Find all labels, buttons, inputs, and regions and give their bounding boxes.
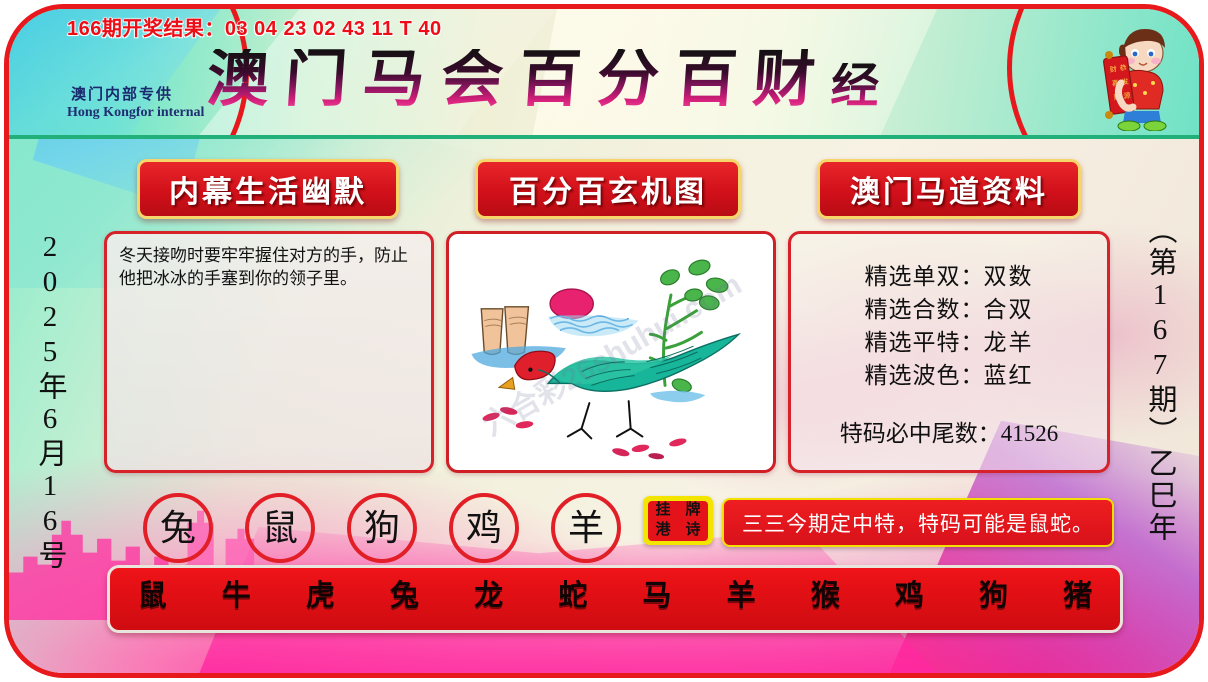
zodiac-strip-item[interactable]: 蛇	[558, 582, 587, 611]
forecast-label: 精选合数	[865, 293, 961, 326]
draw-result-line: 166期开奖结果：03 04 23 02 43 11 T 40	[67, 12, 442, 41]
tip-text: 三三今期定中特，特码可能是鼠蛇。	[742, 508, 1094, 538]
zodiac-strip-item[interactable]: 羊	[727, 582, 756, 611]
zodiac-strip-item[interactable]: 牛	[222, 582, 251, 611]
forecast-colon: ：	[961, 326, 984, 359]
zodiac-pick[interactable]: 鸡	[449, 493, 519, 563]
brand-subtitle-en: Hong Kongfor internal	[67, 105, 204, 121]
forecast-row: 精选平特 ： 龙羊	[791, 326, 1107, 359]
zodiac-strip-item[interactable]: 鼠	[138, 582, 167, 611]
guapai-badge-inner: 挂 牌 港 诗	[648, 501, 708, 541]
forecast-colon: ：	[961, 359, 984, 392]
guapai-badge[interactable]: 挂 牌 港 诗	[643, 496, 713, 545]
zodiac-strip-item[interactable]: 鸡	[895, 582, 924, 611]
zodiac-strip: 鼠 牛 虎 兔 龙 蛇 马 羊 猴 鸡 狗 猪	[107, 565, 1123, 633]
forecast-value: 合双	[984, 293, 1034, 326]
zodiac-pick[interactable]: 鼠	[245, 493, 315, 563]
forecast-label: 精选单双	[865, 260, 961, 293]
svg-text:财: 财	[1109, 64, 1117, 74]
title-char-5: 百	[517, 49, 583, 111]
forecast-value: 双数	[984, 260, 1034, 293]
plaque-label-right: 澳门马道资料	[850, 167, 1048, 211]
forecast-row: 精选单双 ： 双数	[791, 260, 1107, 293]
plaque-label-middle: 百分百玄机图	[509, 167, 707, 211]
zodiac-strip-item[interactable]: 猴	[811, 582, 840, 611]
title-char-3: 马	[361, 49, 427, 111]
date-vertical-label: 2025年6月16号	[29, 231, 71, 572]
header-band: 166期开奖结果：03 04 23 02 43 11 T 40 澳门内部专供 H…	[9, 9, 1199, 139]
forecast-label: 精选平特	[865, 326, 961, 359]
title-char-8: 财	[751, 49, 817, 111]
issue-vertical-label: （第167期）乙巳年	[1139, 215, 1181, 544]
forecast-colon: ：	[961, 260, 984, 293]
forecast-colon: ：	[961, 293, 984, 326]
guapai-char-3: 港	[655, 523, 670, 538]
zodiac-pick[interactable]: 兔	[143, 493, 213, 563]
brand-subtitle-cn: 澳门内部专供	[71, 83, 173, 104]
forecast-panel: 精选单双 ： 双数 精选合数 ： 合双 精选平特 ： 龙羊 精选波色 ：	[788, 231, 1110, 473]
svg-text:源: 源	[1123, 91, 1131, 101]
joke-panel: 冬天接吻时要牢牢握住对方的手，防止他把冰冰的手塞到你的领子里。	[104, 231, 434, 473]
guapai-char-2: 牌	[685, 503, 700, 518]
main-title: 澳 门 马 会 百 分 百 财 经	[207, 49, 879, 111]
bird-illustration	[453, 238, 769, 466]
forecast-label: 精选波色	[865, 359, 961, 392]
guapai-char-1: 挂	[655, 503, 670, 518]
zodiac-strip-item[interactable]: 兔	[390, 582, 419, 611]
title-char-9: 经	[829, 63, 880, 111]
child-with-scroll-icon: 财恭 喜发 财源	[1085, 23, 1181, 131]
plaque-label-left: 内幕生活幽默	[169, 167, 367, 211]
guapai-char-4: 诗	[685, 523, 700, 538]
poster-frame: 166期开奖结果：03 04 23 02 43 11 T 40 澳门内部专供 H…	[4, 4, 1204, 678]
title-char-7: 百	[673, 49, 739, 111]
zodiac-picks-row: 兔 鼠 狗 鸡 羊	[143, 493, 621, 563]
section-title-joke[interactable]: 内幕生活幽默	[137, 159, 399, 219]
zodiac-strip-item[interactable]: 龙	[474, 582, 503, 611]
section-title-forecast[interactable]: 澳门马道资料	[817, 159, 1081, 219]
forecast-row: 精选波色 ： 蓝红	[791, 359, 1107, 392]
lottery-poster: 166期开奖结果：03 04 23 02 43 11 T 40 澳门内部专供 H…	[0, 0, 1208, 682]
zodiac-strip-item[interactable]: 狗	[979, 582, 1008, 611]
forecast-rows: 精选单双 ： 双数 精选合数 ： 合双 精选平特 ： 龙羊 精选波色 ：	[791, 234, 1107, 392]
zodiac-strip-item[interactable]: 马	[643, 582, 672, 611]
forecast-value: 龙羊	[984, 326, 1034, 359]
zodiac-strip-item[interactable]: 猪	[1063, 582, 1092, 611]
tip-bar: 三三今期定中特，特码可能是鼠蛇。	[722, 498, 1114, 547]
zodiac-pick[interactable]: 羊	[551, 493, 621, 563]
forecast-value: 蓝红	[984, 359, 1034, 392]
section-title-picture[interactable]: 百分百玄机图	[475, 159, 741, 219]
picture-panel: 六合彩26shuhui.com	[446, 231, 776, 473]
zodiac-strip-item[interactable]: 虎	[306, 582, 335, 611]
zodiac-pick[interactable]: 狗	[347, 493, 417, 563]
forecast-row: 精选合数 ： 合双	[791, 293, 1107, 326]
forecast-tail-digits: 特码必中尾数：41526	[791, 414, 1107, 448]
title-char-6: 分	[595, 49, 661, 111]
title-char-2: 门	[283, 49, 349, 111]
title-char-4: 会	[439, 49, 505, 111]
title-char-1: 澳	[205, 49, 271, 111]
joke-text: 冬天接吻时要牢牢握住对方的手，防止他把冰冰的手塞到你的领子里。	[107, 234, 431, 290]
svg-text:恭: 恭	[1119, 64, 1127, 73]
